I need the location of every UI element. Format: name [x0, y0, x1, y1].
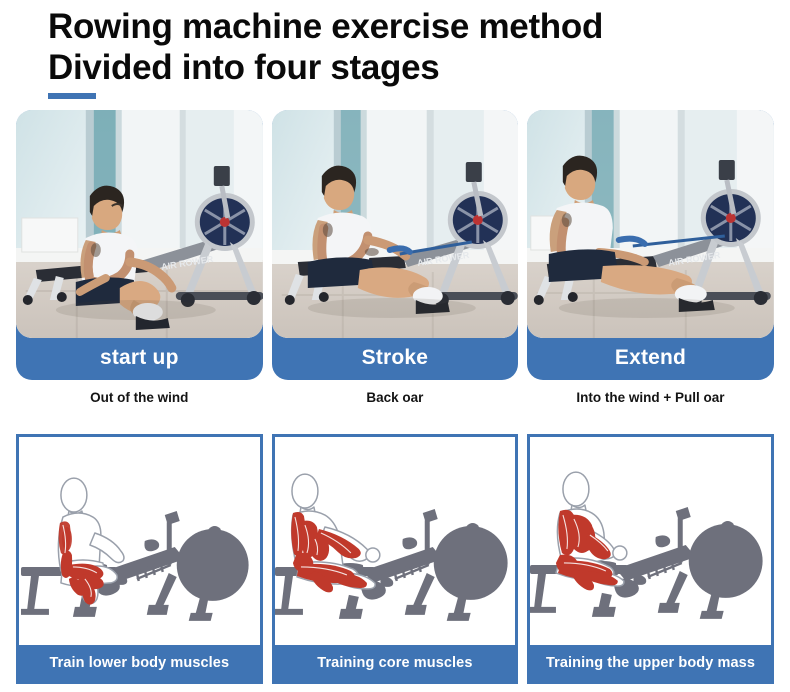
photo-rower-stroke: AIR ROWER: [272, 110, 519, 338]
stage-card-2[interactable]: AIR ROWER: [272, 110, 519, 380]
stage-caption-2: Back oar: [272, 388, 519, 422]
title-accent-bar: [48, 93, 96, 99]
stage-label-3: Extend: [527, 338, 774, 380]
muscle-diagram-row: Train lower body muscles: [16, 434, 774, 684]
muscle-card-1[interactable]: Train lower body muscles: [16, 434, 263, 684]
muscle-label-2: Training core muscles: [275, 645, 516, 681]
stage-caption-row: Out of the wind Back oar Into the wind +…: [16, 388, 774, 422]
stage-caption-3: Into the wind + Pull oar: [527, 388, 774, 422]
title-line-1: Rowing machine exercise method: [48, 6, 768, 47]
stage-label-2: Stroke: [272, 338, 519, 380]
page-root: Rowing machine exercise method Divided i…: [0, 0, 790, 692]
muscle-card-2[interactable]: Training core muscles: [272, 434, 519, 684]
stage-caption-1: Out of the wind: [16, 388, 263, 422]
diagram-upper-body-muscles: [530, 437, 771, 645]
muscle-label-3: Training the upper body mass: [530, 645, 771, 681]
stage-card-1[interactable]: AIR ROWER: [16, 110, 263, 380]
stage-photo-row: AIR ROWER: [16, 110, 774, 380]
diagram-lower-body-muscles: [19, 437, 260, 645]
photo-rower-extend: AIR ROWER: [527, 110, 774, 338]
muscle-card-3[interactable]: Training the upper body mass: [527, 434, 774, 684]
photo-rower-start-up: AIR ROWER: [16, 110, 263, 338]
muscle-label-1: Train lower body muscles: [19, 645, 260, 681]
page-title: Rowing machine exercise method Divided i…: [48, 6, 768, 88]
diagram-core-muscles: [275, 437, 516, 645]
stage-card-3[interactable]: AIR ROWER: [527, 110, 774, 380]
stage-label-1: start up: [16, 338, 263, 380]
title-line-2: Divided into four stages: [48, 47, 768, 88]
